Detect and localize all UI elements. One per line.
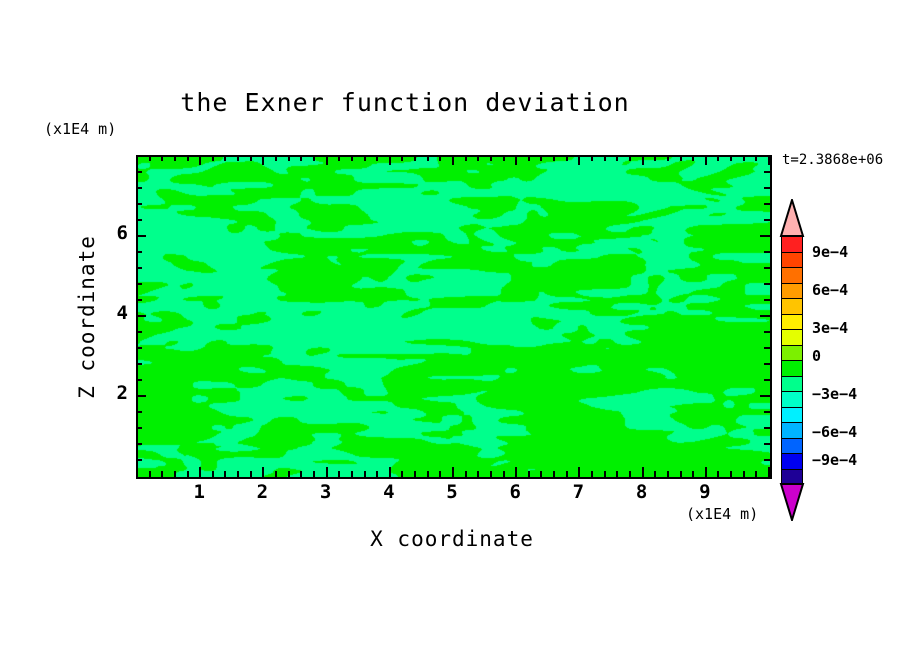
x-minor-tick bbox=[667, 471, 669, 477]
x-minor-tick bbox=[237, 471, 239, 477]
x-minor-tick bbox=[427, 471, 429, 477]
x-major-tick bbox=[578, 467, 580, 477]
y-minor-tick-right bbox=[764, 187, 770, 189]
x-minor-tick-top bbox=[477, 155, 479, 161]
x-major-tick bbox=[515, 467, 517, 477]
x-major-tick bbox=[199, 467, 201, 477]
x-minor-tick-top bbox=[351, 155, 353, 161]
colorbar-band bbox=[781, 283, 803, 299]
x-minor-tick bbox=[540, 471, 542, 477]
y-major-tick bbox=[136, 235, 146, 237]
y-minor-tick-right bbox=[764, 299, 770, 301]
y-minor-tick bbox=[136, 443, 142, 445]
x-minor-tick bbox=[300, 471, 302, 477]
x-minor-tick-top bbox=[604, 155, 606, 161]
x-minor-tick bbox=[465, 471, 467, 477]
colorbar-band bbox=[781, 360, 803, 376]
x-minor-tick-top bbox=[313, 155, 315, 161]
x-minor-tick bbox=[313, 471, 315, 477]
x-major-tick-top bbox=[515, 155, 517, 165]
y-minor-tick bbox=[136, 219, 142, 221]
x-minor-tick-top bbox=[338, 155, 340, 161]
colorbar-band bbox=[781, 252, 803, 268]
y-minor-tick-right bbox=[764, 411, 770, 413]
y-minor-tick bbox=[136, 267, 142, 269]
x-minor-tick-top bbox=[680, 155, 682, 161]
x-major-tick-top bbox=[389, 155, 391, 165]
y-minor-tick bbox=[136, 379, 142, 381]
x-minor-tick bbox=[553, 471, 555, 477]
x-major-tick-top bbox=[452, 155, 454, 165]
x-minor-tick-top bbox=[654, 155, 656, 161]
x-minor-tick-top bbox=[616, 155, 618, 161]
x-minor-tick bbox=[212, 471, 214, 477]
x-major-tick bbox=[768, 467, 770, 477]
x-minor-tick bbox=[591, 471, 593, 477]
x-minor-tick-top bbox=[566, 155, 568, 161]
x-major-tick-top bbox=[642, 155, 644, 165]
x-minor-tick-top bbox=[401, 155, 403, 161]
x-minor-tick-top bbox=[224, 155, 226, 161]
x-minor-tick-top bbox=[300, 155, 302, 161]
x-major-tick-top bbox=[768, 155, 770, 165]
y-minor-tick bbox=[136, 331, 142, 333]
x-minor-tick-top bbox=[427, 155, 429, 161]
colorbar-band bbox=[781, 438, 803, 454]
y-minor-tick bbox=[136, 363, 142, 365]
x-minor-tick-top bbox=[503, 155, 505, 161]
x-minor-tick bbox=[414, 471, 416, 477]
y-tick-label: 2 bbox=[88, 382, 128, 404]
x-minor-tick bbox=[275, 471, 277, 477]
y-minor-tick-right bbox=[764, 459, 770, 461]
x-major-tick bbox=[705, 467, 707, 477]
x-minor-tick bbox=[730, 471, 732, 477]
x-major-tick bbox=[452, 467, 454, 477]
y-minor-tick-right bbox=[764, 171, 770, 173]
y-minor-tick bbox=[136, 283, 142, 285]
x-major-tick bbox=[642, 467, 644, 477]
x-minor-tick bbox=[604, 471, 606, 477]
x-minor-tick bbox=[338, 471, 340, 477]
colorbar-tick-label: −6e−4 bbox=[812, 423, 857, 441]
y-minor-tick bbox=[136, 187, 142, 189]
x-minor-tick-top bbox=[540, 155, 542, 161]
y-major-tick-right bbox=[760, 315, 770, 317]
x-tick-label: 2 bbox=[242, 481, 282, 503]
x-tick-label: 8 bbox=[622, 481, 662, 503]
x-minor-tick bbox=[717, 471, 719, 477]
x-minor-tick bbox=[743, 471, 745, 477]
y-major-tick bbox=[136, 395, 146, 397]
x-minor-tick bbox=[187, 471, 189, 477]
x-minor-tick-top bbox=[528, 155, 530, 161]
x-minor-tick bbox=[692, 471, 694, 477]
x-minor-tick bbox=[680, 471, 682, 477]
colorbar-top-arrow-icon bbox=[779, 199, 805, 237]
x-minor-tick-top bbox=[149, 155, 151, 161]
x-minor-tick bbox=[477, 471, 479, 477]
x-major-tick-top bbox=[705, 155, 707, 165]
x-minor-tick-top bbox=[174, 155, 176, 161]
x-minor-tick-top bbox=[629, 155, 631, 161]
y-major-tick bbox=[136, 315, 146, 317]
x-minor-tick bbox=[503, 471, 505, 477]
x-minor-tick-top bbox=[288, 155, 290, 161]
x-tick-label: 5 bbox=[432, 481, 472, 503]
y-minor-tick-right bbox=[764, 283, 770, 285]
colorbar-band bbox=[781, 469, 803, 485]
x-tick-label: 6 bbox=[495, 481, 535, 503]
colorbar-band bbox=[781, 453, 803, 469]
y-minor-tick bbox=[136, 251, 142, 253]
x-minor-tick-top bbox=[692, 155, 694, 161]
colorbar-band bbox=[781, 329, 803, 345]
x-major-tick-top bbox=[262, 155, 264, 165]
x-minor-tick-top bbox=[376, 155, 378, 161]
colorbar-band bbox=[781, 407, 803, 423]
x-tick-label: 1 bbox=[179, 481, 219, 503]
colorbar bbox=[781, 236, 803, 484]
x-tick-label: 3 bbox=[306, 481, 346, 503]
y-minor-tick-right bbox=[764, 427, 770, 429]
colorbar-band bbox=[781, 236, 803, 252]
x-minor-tick-top bbox=[275, 155, 277, 161]
x-minor-tick bbox=[755, 471, 757, 477]
x-minor-tick bbox=[616, 471, 618, 477]
x-minor-tick bbox=[149, 471, 151, 477]
y-minor-tick-right bbox=[764, 219, 770, 221]
y-major-tick-right bbox=[760, 395, 770, 397]
y-minor-tick-right bbox=[764, 331, 770, 333]
colorbar-tick-label: −9e−4 bbox=[812, 451, 857, 469]
y-minor-tick-right bbox=[764, 251, 770, 253]
y-minor-tick bbox=[136, 171, 142, 173]
x-minor-tick-top bbox=[439, 155, 441, 161]
x-minor-tick bbox=[566, 471, 568, 477]
x-major-tick-top bbox=[326, 155, 328, 165]
x-tick-label: 4 bbox=[369, 481, 409, 503]
x-minor-tick-top bbox=[755, 155, 757, 161]
x-minor-tick-top bbox=[414, 155, 416, 161]
y-minor-tick-right bbox=[764, 203, 770, 205]
x-axis-unit-label: (x1E4 m) bbox=[686, 505, 758, 523]
x-minor-tick bbox=[364, 471, 366, 477]
y-minor-tick-right bbox=[764, 363, 770, 365]
y-minor-tick-right bbox=[764, 267, 770, 269]
colorbar-band bbox=[781, 422, 803, 438]
x-major-tick-top bbox=[578, 155, 580, 165]
x-major-tick-top bbox=[199, 155, 201, 165]
contour-field-canvas bbox=[138, 157, 770, 477]
x-minor-tick bbox=[376, 471, 378, 477]
x-minor-tick-top bbox=[730, 155, 732, 161]
colorbar-band bbox=[781, 376, 803, 392]
x-minor-tick bbox=[288, 471, 290, 477]
contour-plot-area bbox=[136, 155, 772, 479]
x-minor-tick bbox=[161, 471, 163, 477]
colorbar-tick-label: 6e−4 bbox=[812, 281, 848, 299]
x-minor-tick bbox=[490, 471, 492, 477]
y-minor-tick bbox=[136, 459, 142, 461]
x-major-tick bbox=[262, 467, 264, 477]
colorbar-tick-label: −3e−4 bbox=[812, 385, 857, 403]
x-major-tick bbox=[389, 467, 391, 477]
x-minor-tick bbox=[439, 471, 441, 477]
y-minor-tick-right bbox=[764, 443, 770, 445]
colorbar-band bbox=[781, 298, 803, 314]
x-minor-tick-top bbox=[591, 155, 593, 161]
y-minor-tick bbox=[136, 299, 142, 301]
y-major-tick-right bbox=[760, 235, 770, 237]
x-minor-tick-top bbox=[553, 155, 555, 161]
page-title: the Exner function deviation bbox=[0, 88, 904, 117]
x-minor-tick-top bbox=[250, 155, 252, 161]
x-minor-tick-top bbox=[667, 155, 669, 161]
y-tick-label: 4 bbox=[88, 302, 128, 324]
x-tick-label: 7 bbox=[558, 481, 598, 503]
colorbar-band bbox=[781, 391, 803, 407]
x-tick-label: 9 bbox=[685, 481, 725, 503]
y-minor-tick bbox=[136, 411, 142, 413]
x-minor-tick-top bbox=[187, 155, 189, 161]
x-minor-tick bbox=[174, 471, 176, 477]
x-minor-tick-top bbox=[490, 155, 492, 161]
y-tick-label: 6 bbox=[88, 222, 128, 244]
colorbar-bottom-arrow-icon bbox=[779, 483, 805, 521]
y-minor-tick bbox=[136, 427, 142, 429]
x-minor-tick-top bbox=[364, 155, 366, 161]
x-minor-tick bbox=[250, 471, 252, 477]
colorbar-tick-label: 9e−4 bbox=[812, 243, 848, 261]
x-minor-tick-top bbox=[161, 155, 163, 161]
x-minor-tick-top bbox=[743, 155, 745, 161]
x-minor-tick-top bbox=[465, 155, 467, 161]
x-minor-tick bbox=[528, 471, 530, 477]
y-minor-tick bbox=[136, 347, 142, 349]
x-minor-tick bbox=[654, 471, 656, 477]
x-axis-title: X coordinate bbox=[136, 527, 768, 551]
y-minor-tick-right bbox=[764, 379, 770, 381]
colorbar-band bbox=[781, 345, 803, 361]
colorbar-band bbox=[781, 267, 803, 283]
colorbar-tick-label: 3e−4 bbox=[812, 319, 848, 337]
x-minor-tick bbox=[401, 471, 403, 477]
x-minor-tick bbox=[629, 471, 631, 477]
y-minor-tick-right bbox=[764, 347, 770, 349]
x-minor-tick bbox=[351, 471, 353, 477]
x-minor-tick-top bbox=[717, 155, 719, 161]
colorbar-band bbox=[781, 314, 803, 330]
x-minor-tick-top bbox=[237, 155, 239, 161]
y-minor-tick bbox=[136, 203, 142, 205]
y-axis-unit-label: (x1E4 m) bbox=[44, 120, 116, 138]
x-major-tick bbox=[326, 467, 328, 477]
colorbar-tick-label: 0 bbox=[812, 347, 821, 365]
time-stamp-label: t=2.3868e+06 bbox=[782, 152, 883, 168]
x-minor-tick-top bbox=[212, 155, 214, 161]
x-minor-tick bbox=[224, 471, 226, 477]
